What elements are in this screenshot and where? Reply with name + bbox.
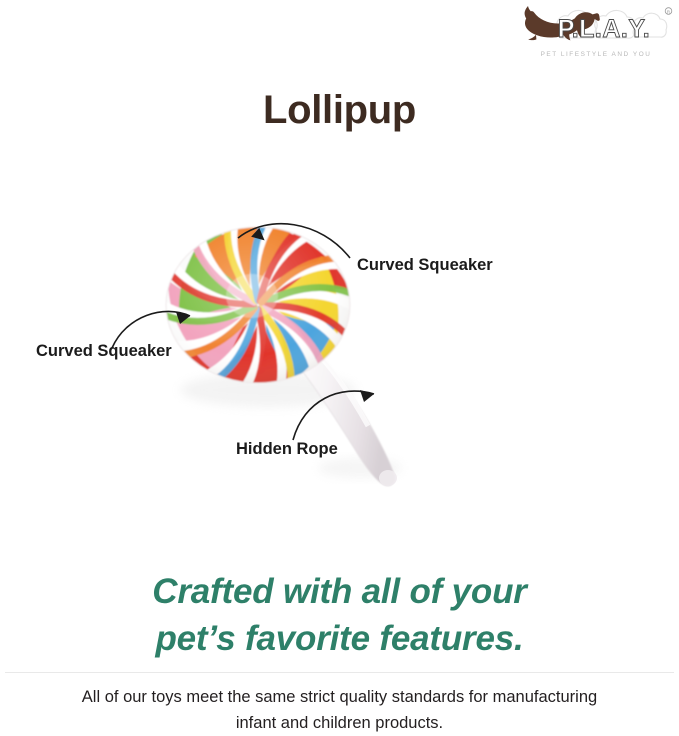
- brand-wordmark: P.L.A.Y.: [558, 15, 650, 43]
- callout-label-hidden-rope: Hidden Rope: [236, 440, 338, 459]
- registered-trademark-icon: R: [665, 8, 672, 15]
- footer-line-1: All of our toys meet the same strict qua…: [0, 684, 679, 710]
- footer-disclaimer: All of our toys meet the same strict qua…: [0, 684, 679, 736]
- page-title: Lollipup: [0, 88, 679, 133]
- brand-logo-art: R P.L.A.Y.: [516, 4, 676, 48]
- product-photo-illustration: [0, 200, 679, 530]
- brand-logo: R P.L.A.Y. PET LIFESTYLE AND YOU: [516, 4, 676, 66]
- tagline-line-2: pet’s favorite features.: [0, 615, 679, 662]
- brand-tagline: PET LIFESTYLE AND YOU: [516, 51, 676, 58]
- footer-line-2: infant and children products.: [0, 710, 679, 736]
- svg-text:R: R: [667, 9, 670, 14]
- svg-text:P.L.A.Y.: P.L.A.Y.: [558, 15, 650, 43]
- footer-divider: [5, 672, 674, 673]
- product-image: [0, 200, 679, 530]
- tagline-line-1: Crafted with all of your: [0, 568, 679, 615]
- callout-label-curved-squeaker-left: Curved Squeaker: [36, 342, 172, 361]
- callout-label-curved-squeaker-top: Curved Squeaker: [357, 256, 493, 275]
- marketing-tagline: Crafted with all of your pet’s favorite …: [0, 568, 679, 662]
